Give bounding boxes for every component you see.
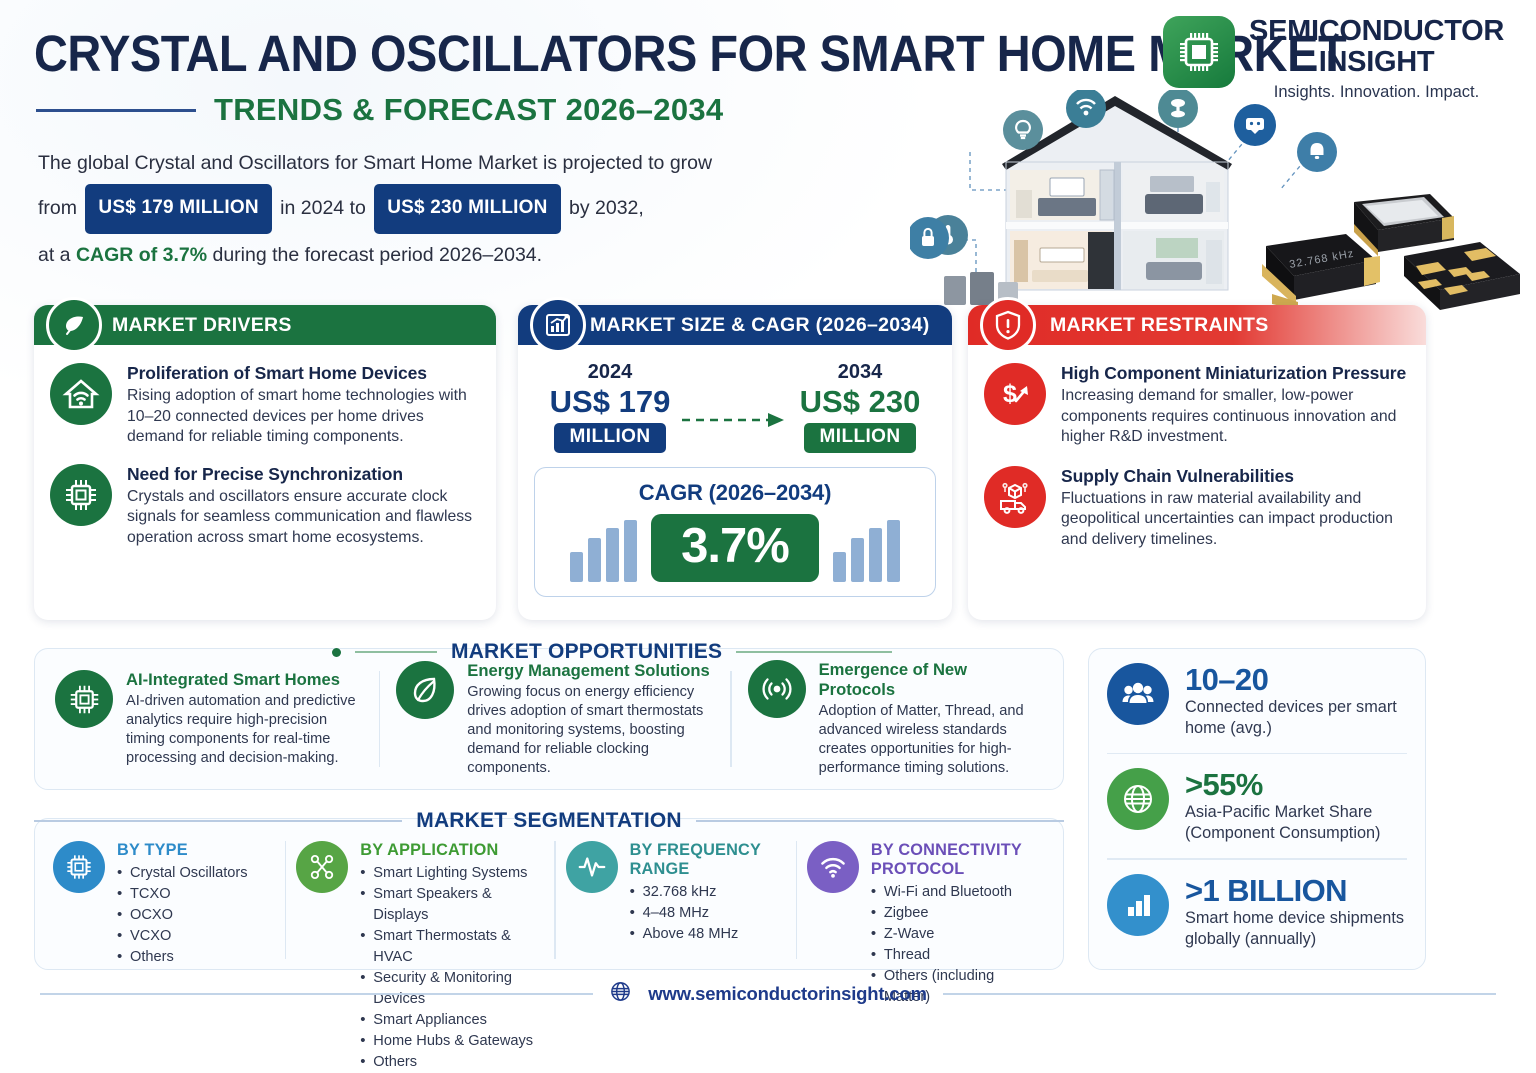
segment-title: BY TYPE (117, 841, 248, 860)
footer-line-right (943, 993, 1496, 995)
opportunities-band: MARKET OPPORTUNITIES (332, 640, 892, 664)
value-pill-2032: US$ 230 MILLION (374, 184, 560, 234)
band-line-left (34, 820, 402, 822)
segment-list-item: Smart Lighting Systems (360, 863, 544, 884)
key-stats-card: 10–20 Connected devices per smart home (… (1088, 648, 1426, 970)
band-dot (332, 648, 341, 657)
segment-group: BY APPLICATION Smart Lighting Systems Sm… (286, 841, 554, 959)
dollar-growth-icon: $ (984, 363, 1046, 425)
stat-value: >55% (1185, 768, 1425, 801)
opportunity-text: AI-driven automation and predictive anal… (126, 692, 363, 768)
restraint-title: High Component Miniaturization Pressure (1061, 363, 1408, 384)
smart-home-wifi-icon (50, 363, 112, 425)
chip-icon (50, 464, 112, 526)
segmentation-band-label: MARKET SEGMENTATION (416, 809, 682, 833)
segment-list-item: Home Hubs & Gateways (360, 1031, 544, 1052)
decorative-bars-right (833, 520, 900, 582)
segment-group: BY CONNECTIVITY PROTOCOL Wi-Fi and Bluet… (797, 841, 1053, 959)
opportunity-text: Adoption of Matter, Thread, and advanced… (819, 702, 1043, 778)
segment-title: BY CONNECTIVITY PROTOCOL (871, 841, 1043, 879)
leaf-icon (46, 297, 102, 353)
brand-logo: SEMICONDUCTOR INSIGHT Insights. Innovati… (1163, 12, 1504, 102)
title-divider (36, 109, 196, 112)
market-size-header-label: MARKET SIZE & CAGR (2026–2034) (590, 314, 930, 337)
svg-text:$: $ (1003, 380, 1017, 408)
segment-group: BY FREQUENCY RANGE 32.768 kHz 4–48 MHz A… (556, 841, 796, 959)
segment-list: Crystal Oscillators TCXO OCXO VCXO Other… (117, 863, 248, 968)
wifi-icon (807, 841, 859, 893)
microchip-icon (53, 841, 105, 893)
footer-line-left (40, 993, 593, 995)
stat-item: 10–20 Connected devices per smart home (… (1089, 649, 1425, 753)
segment-list-item: OCXO (117, 905, 248, 926)
market-restraints-panel: MARKET RESTRAINTS $ High Component (968, 305, 1426, 620)
page-title: CRYSTAL AND OSCILLATORS FOR SMART HOME M… (34, 24, 1346, 83)
segment-list-item: Others (360, 1052, 544, 1073)
segment-list: 32.768 kHz 4–48 MHz Above 48 MHz (630, 882, 786, 945)
bar-chart-icon (1107, 874, 1169, 936)
opportunity-text: Growing focus on energy efficiency drive… (467, 683, 714, 778)
restraint-item: Supply Chain Vulnerabilities Fluctuation… (984, 466, 1408, 551)
chip-icon (55, 670, 113, 728)
restraint-item: $ High Component Miniaturization Pressur… (984, 363, 1408, 448)
end-unit: MILLION (804, 423, 917, 453)
driver-title: Need for Precise Synchronization (127, 464, 478, 485)
logo-line-2: INSIGHT (1249, 47, 1504, 78)
band-line-left (355, 651, 437, 653)
stat-value: >1 BILLION (1185, 874, 1425, 907)
shield-alert-icon (980, 297, 1036, 353)
segment-title: BY FREQUENCY RANGE (630, 841, 786, 879)
segment-list-item: Thread (871, 945, 1043, 966)
segment-group: BY TYPE Crystal Oscillators TCXO OCXO VC… (45, 841, 285, 959)
logo-line-1: SEMICONDUCTOR (1249, 16, 1504, 47)
globe-icon (1107, 768, 1169, 830)
users-group-icon (1107, 663, 1169, 725)
intro-mid: in 2024 to (280, 197, 366, 219)
segment-list-item: Above 48 MHz (630, 924, 786, 945)
driver-text: Crystals and oscillators ensure accurate… (127, 487, 478, 549)
segment-list-item: Wi-Fi and Bluetooth (871, 882, 1043, 903)
chip-logo-icon (1163, 16, 1235, 88)
drivers-header: MARKET DRIVERS (34, 305, 496, 345)
segment-list-item: Z-Wave (871, 924, 1043, 945)
intro-from: from (38, 197, 77, 219)
infographic-page: CRYSTAL AND OSCILLATORS FOR SMART HOME M… (0, 0, 1536, 1024)
value-pill-2024: US$ 179 MILLION (85, 184, 271, 234)
driver-item: Proliferation of Smart Home Devices Risi… (50, 363, 478, 448)
drivers-header-label: MARKET DRIVERS (112, 314, 292, 337)
opportunity-item: Energy Management Solutions Growing focu… (380, 661, 730, 778)
stat-text: Smart home device shipments globally (an… (1185, 908, 1425, 950)
segment-list-item: Zigbee (871, 903, 1043, 924)
market-drivers-panel: MARKET DRIVERS Proliferation (34, 305, 496, 620)
intro-cagr-pre: at a (38, 244, 71, 266)
opportunity-title: Emergence of New Protocols (819, 660, 1043, 700)
intro-end: by 2032, (569, 197, 644, 219)
segmentation-band: MARKET SEGMENTATION (34, 809, 1064, 833)
supply-truck-icon (984, 466, 1046, 528)
market-segmentation-card: BY TYPE Crystal Oscillators TCXO OCXO VC… (34, 818, 1064, 970)
segment-list-item: VCXO (117, 926, 248, 947)
opportunity-item: Emergence of New Protocols Adoption of M… (732, 660, 1059, 778)
start-unit: MILLION (554, 423, 667, 453)
opportunities-band-label: MARKET OPPORTUNITIES (451, 640, 722, 664)
segment-list-item: Crystal Oscillators (117, 863, 248, 884)
footer-url[interactable]: www.semiconductorinsight.com (648, 983, 926, 1005)
intro-cagr-post: during the forecast period 2026–2034. (212, 244, 542, 266)
segment-list-item: Smart Appliances (360, 1010, 544, 1031)
segment-list-item: Smart Thermostats & HVAC (360, 926, 544, 968)
start-year: 2024 (540, 361, 680, 384)
stat-value: 10–20 (1185, 663, 1425, 696)
intro-paragraph: The global Crystal and Oscillators for S… (38, 142, 808, 276)
driver-title: Proliferation of Smart Home Devices (127, 363, 478, 384)
cagr-title: CAGR (2026–2034) (639, 480, 831, 506)
driver-item: Need for Precise Synchronization Crystal… (50, 464, 478, 549)
cagr-value: 3.7% (651, 514, 819, 582)
bar-chart-growth-icon (530, 297, 586, 353)
segment-title: BY APPLICATION (360, 841, 544, 860)
band-line-right (696, 820, 1064, 822)
end-value: US$ 230 (790, 384, 930, 420)
opportunity-title: AI-Integrated Smart Homes (126, 670, 363, 690)
decorative-bars-left (570, 520, 637, 582)
intro-cagr-value: CAGR of 3.7% (76, 244, 207, 266)
leaf-icon (396, 661, 454, 719)
opportunity-item: AI-Integrated Smart Homes AI-driven auto… (39, 670, 379, 768)
segment-list-item: 4–48 MHz (630, 903, 786, 924)
band-line-right (736, 651, 892, 653)
driver-text: Rising adoption of smart home technologi… (127, 386, 478, 448)
footer: www.semiconductorinsight.com (40, 980, 1496, 1008)
end-year: 2034 (790, 361, 930, 384)
segment-list-item: 32.768 kHz (630, 882, 786, 903)
cagr-box: CAGR (2026–2034) 3.7% (534, 467, 936, 597)
segment-list-item: Smart Speakers & Displays (360, 884, 544, 926)
intro-line-1: The global Crystal and Oscillators for S… (38, 152, 712, 174)
stat-item: >55% Asia-Pacific Market Share (Componen… (1089, 754, 1425, 858)
signal-waves-icon (748, 660, 806, 718)
restraints-header: MARKET RESTRAINTS (968, 305, 1426, 345)
restraints-header-label: MARKET RESTRAINTS (1050, 314, 1269, 337)
stat-text: Asia-Pacific Market Share (Component Con… (1185, 802, 1425, 844)
growth-arrow-icon (680, 361, 790, 453)
segment-list: Smart Lighting Systems Smart Speakers & … (360, 863, 544, 1073)
market-opportunities-card: AI-Integrated Smart Homes AI-driven auto… (34, 648, 1064, 790)
subtitle-row: TRENDS & FORECAST 2026–2034 (36, 92, 836, 128)
stat-item: >1 BILLION Smart home device shipments g… (1089, 860, 1425, 964)
segment-list-item: TCXO (117, 884, 248, 905)
start-value: US$ 179 (540, 384, 680, 420)
market-size-panel: MARKET SIZE & CAGR (2026–2034) 2024 US$ … (518, 305, 952, 620)
restraint-text: Fluctuations in raw material availabilit… (1061, 489, 1408, 551)
network-nodes-icon (296, 841, 348, 893)
stat-text: Connected devices per smart home (avg.) (1185, 697, 1425, 739)
restraint-title: Supply Chain Vulnerabilities (1061, 466, 1408, 487)
restraint-text: Increasing demand for smaller, low-power… (1061, 386, 1408, 448)
segment-list-item: Others (117, 947, 248, 968)
page-subtitle: TRENDS & FORECAST 2026–2034 (214, 92, 723, 128)
waveform-icon (566, 841, 618, 893)
globe-icon (609, 980, 632, 1008)
